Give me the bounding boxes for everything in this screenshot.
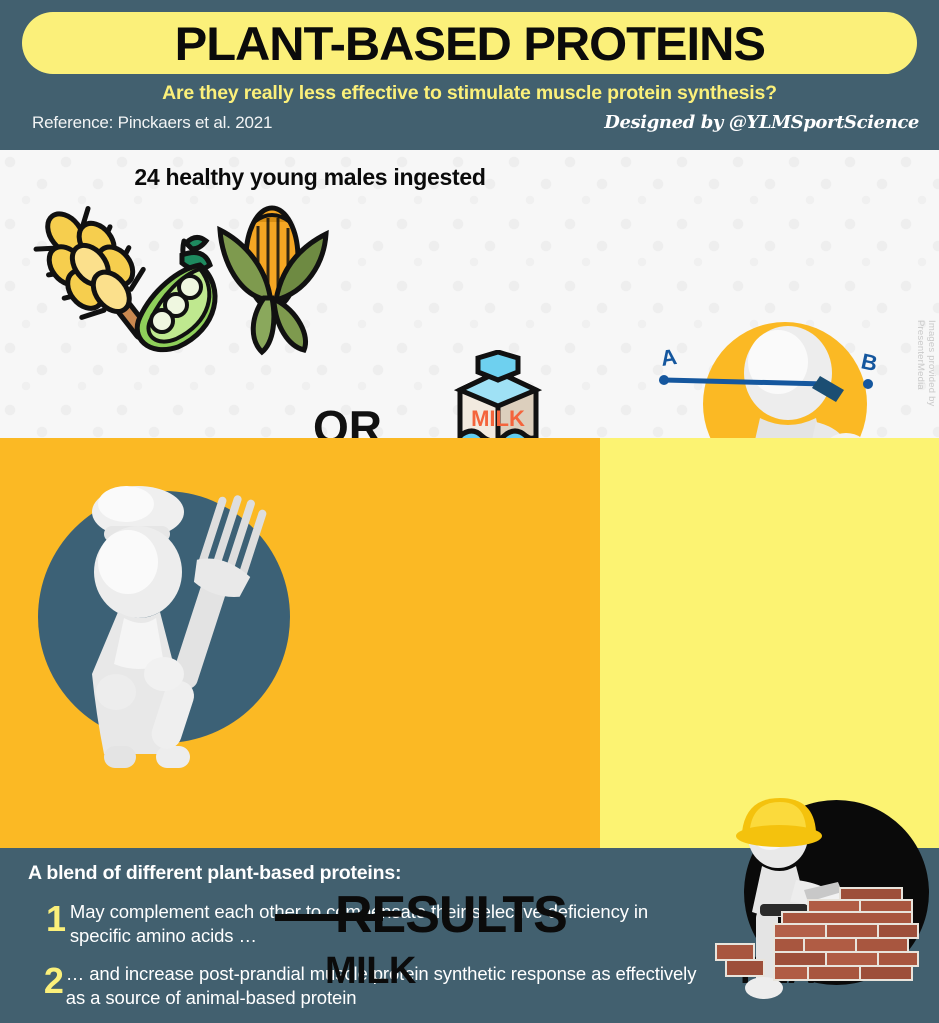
or-label: OR [313, 400, 382, 438]
chef-with-fork-illustration [60, 478, 275, 778]
reference-citation: Reference: Pinckaers et al. 2021 [32, 113, 272, 133]
column-header-milk: MILK [325, 950, 416, 993]
conclusion-title: A blend of different plant-based protein… [28, 862, 401, 885]
page-title: PLANT-BASED PROTEINS [174, 16, 764, 71]
study-section: 24 healthy young males ingested [0, 150, 939, 438]
infographic-page: PLANT-BASED PROTEINS Are they really les… [0, 0, 939, 1023]
milk-carton-label: MILK [471, 406, 525, 431]
header-banner: PLANT-BASED PROTEINS Are they really les… [0, 0, 939, 150]
builder-with-bricks-illustration [712, 792, 927, 1007]
designer-credit: Designed by @YLMSportScience [604, 112, 919, 133]
results-title: RESULTS [335, 885, 567, 945]
milk-carton-icon: MILK [452, 350, 544, 438]
image-credit: Images provided by PresenterMedia [915, 320, 937, 438]
results-plant-panel [600, 438, 939, 848]
corn-icon [206, 200, 336, 365]
conclusion-number-1: 1 [42, 902, 70, 936]
results-section: RESULTS MILK PLANT 151 ± 31 Plasma essen… [0, 438, 939, 848]
label-point-a: A [659, 344, 678, 371]
header-subtitle: Are they really less effective to stimul… [0, 82, 939, 105]
title-pill: PLANT-BASED PROTEINS [22, 12, 917, 74]
conclusion-number-2: 2 [42, 964, 66, 998]
study-heading: 24 healthy young males ingested [0, 164, 620, 191]
presenter-figure-illustration: A B [620, 318, 920, 438]
label-point-b: B [859, 348, 880, 376]
